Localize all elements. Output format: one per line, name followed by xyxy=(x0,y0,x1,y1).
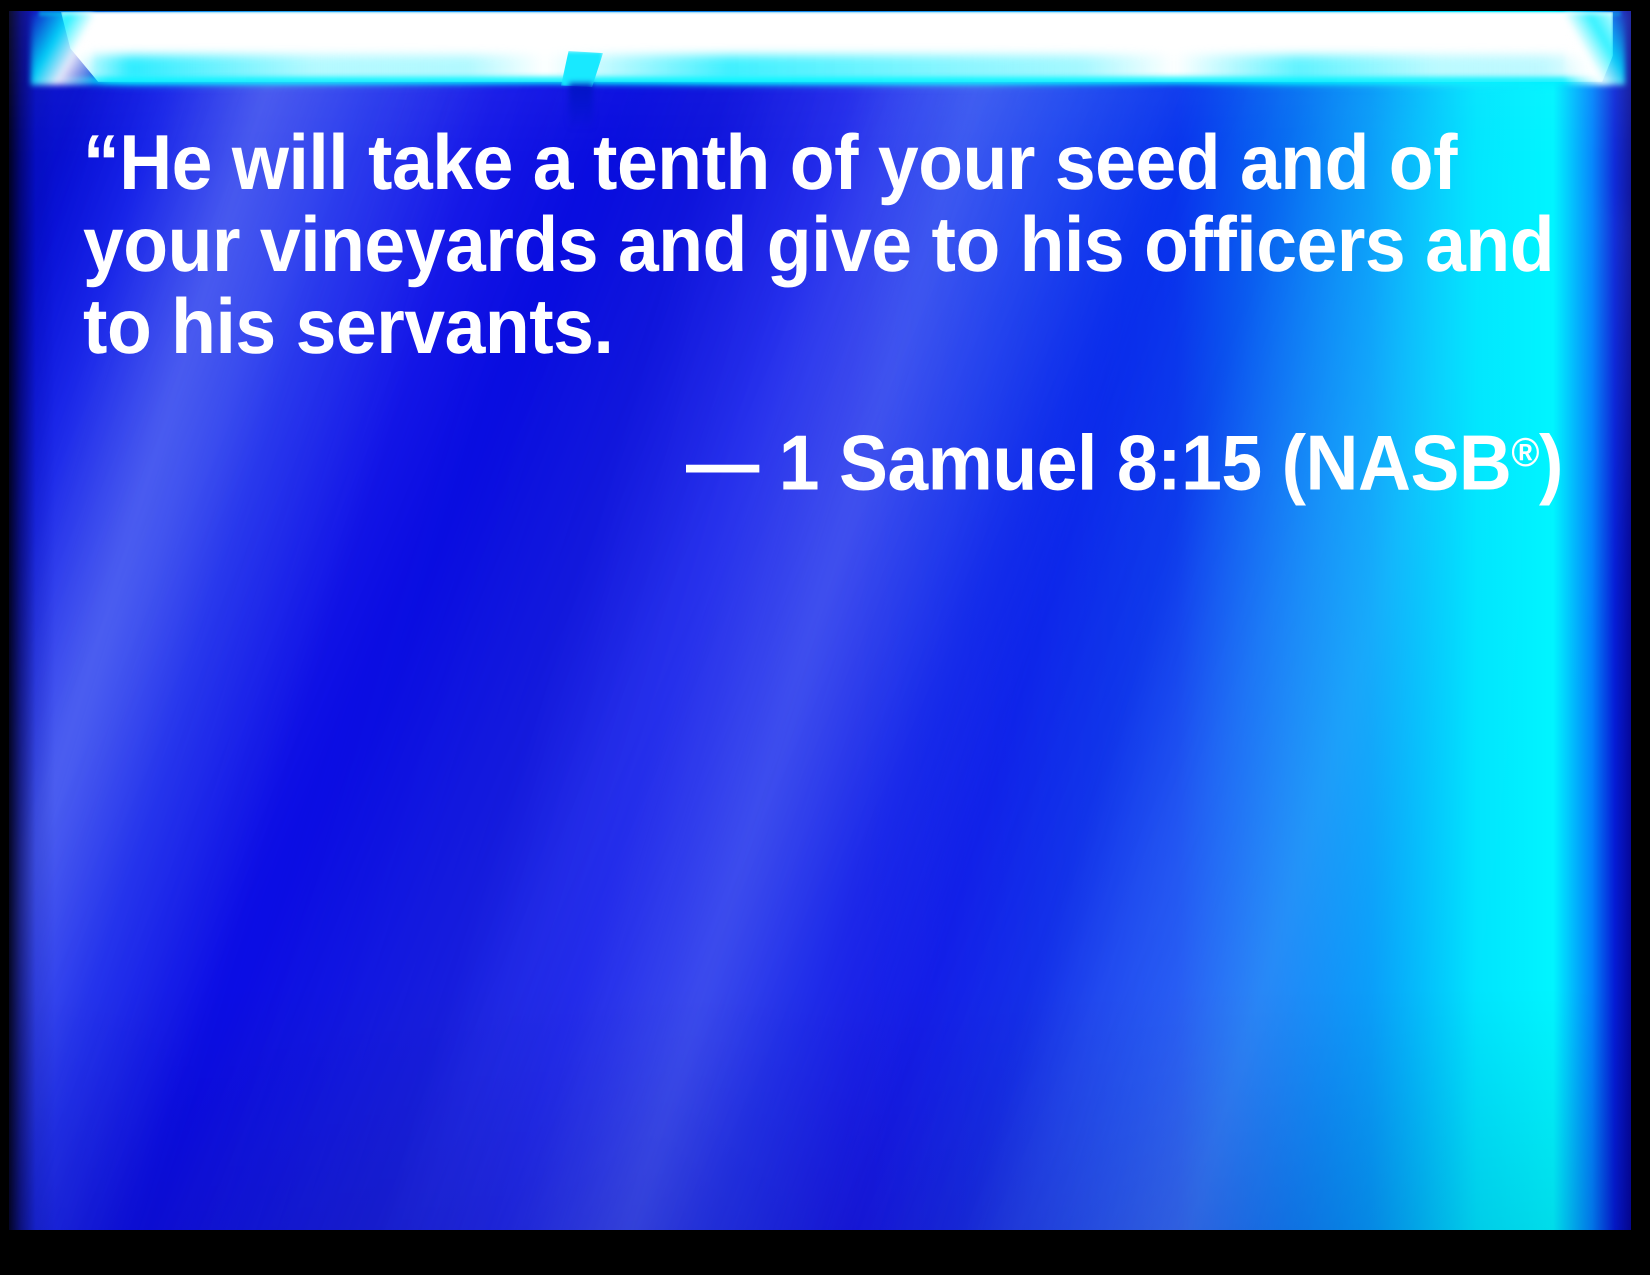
verse-text-block: “He will take a tenth of your seed and o… xyxy=(83,121,1563,504)
verse-line-3: to his servants. xyxy=(83,285,1474,367)
slide-canvas: “He will take a tenth of your seed and o… xyxy=(9,11,1631,1230)
matte-border-bottom xyxy=(0,1230,1650,1275)
verse-citation: — 1 Samuel 8:15 (NASB®) xyxy=(172,411,1563,504)
citation-prefix: — 1 Samuel 8:15 (NASB xyxy=(686,419,1511,507)
matte-border-right xyxy=(1631,0,1650,1275)
verse-line-1: “He will take a tenth of your seed and o… xyxy=(83,121,1474,203)
citation-suffix: ) xyxy=(1539,419,1563,507)
matte-border-left xyxy=(0,0,9,1275)
slide-frame: “He will take a tenth of your seed and o… xyxy=(0,0,1650,1275)
verse-line-2: your vineyards and give to his officers … xyxy=(83,203,1474,285)
registered-trademark-icon: ® xyxy=(1511,429,1539,475)
matte-border-top xyxy=(0,0,1650,10)
